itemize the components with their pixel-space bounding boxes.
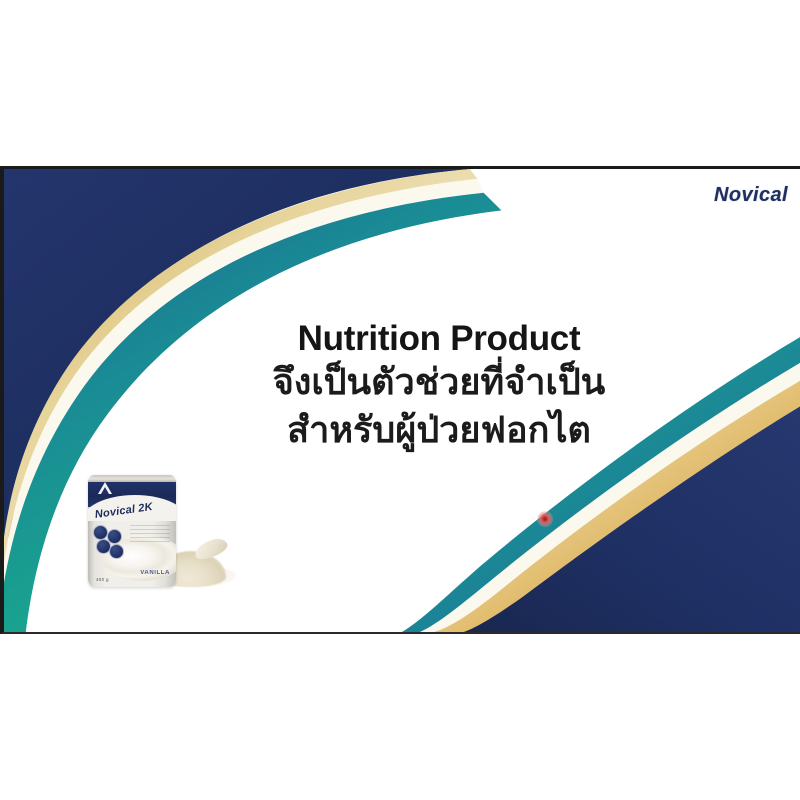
tin-lid <box>88 475 176 482</box>
tin-benefit-badges <box>93 525 127 567</box>
product-photo: Novical 2K VANILLA 400 g <box>82 469 257 604</box>
tin-badge <box>93 525 108 540</box>
tin-flavor-label: VANILLA <box>140 570 170 576</box>
triangle-logo-icon <box>98 482 112 494</box>
tin-net-weight: 400 g <box>96 577 109 582</box>
page-background: Novical Nutrition Product จึงเป็นตัวช่วย… <box>0 0 800 800</box>
presentation-slide: Novical Nutrition Product จึงเป็นตัวช่วย… <box>0 166 800 634</box>
headline-thai-line-2: สำหรับผู้ป่วยฟอกไต <box>224 409 654 453</box>
headline-thai-line-1: จึงเป็นตัวช่วยที่จำเป็น <box>224 361 654 405</box>
laser-pointer-dot <box>537 511 553 527</box>
slide-headline-block: Nutrition Product จึงเป็นตัวช่วยที่จำเป็… <box>224 321 654 453</box>
tin-badge <box>109 544 124 559</box>
headline-english: Nutrition Product <box>224 321 654 357</box>
novical-brand-logo: Novical <box>714 184 788 207</box>
tin-description-text <box>130 525 170 545</box>
novical-2k-tin: Novical 2K VANILLA 400 g <box>88 475 176 587</box>
